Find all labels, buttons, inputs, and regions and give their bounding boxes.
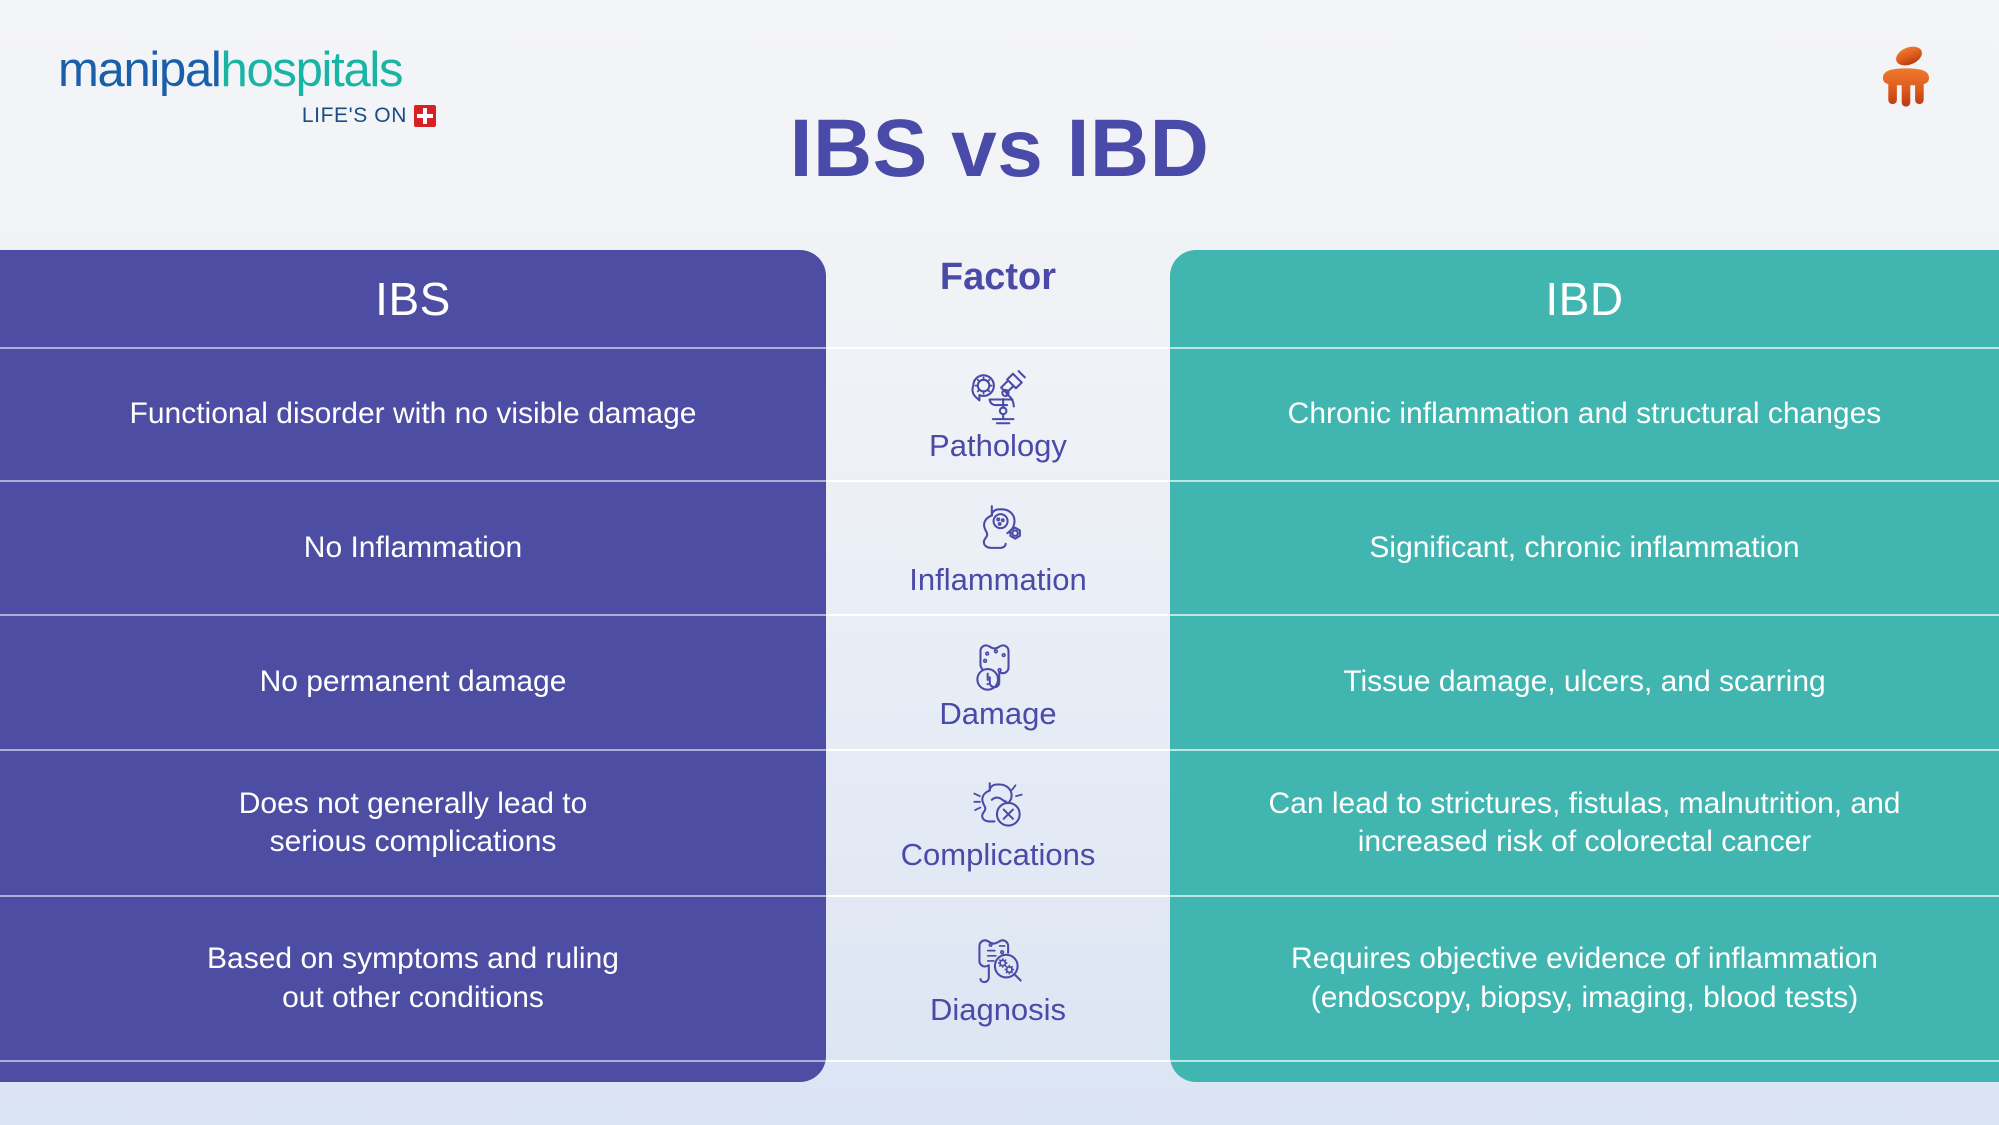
stomach-cross-icon <box>965 777 1031 839</box>
factor-column: Factor <box>826 250 1170 1082</box>
factor-row-diagnosis: Diagnosis <box>826 895 1170 1060</box>
manipal-m-mark-icon <box>1869 36 1943 110</box>
logo-word-hospitals: hospitals <box>221 43 403 97</box>
page-title: IBS vs IBD <box>0 108 1999 190</box>
factor-label-inflammation: Inflammation <box>909 564 1086 595</box>
ibd-column-tail <box>1170 1060 1999 1082</box>
factor-label-damage: Damage <box>939 698 1056 729</box>
microscope-virus-icon <box>965 368 1031 430</box>
ibs-column-tail <box>0 1060 826 1082</box>
intestine-magnifier-icon <box>965 932 1031 994</box>
table-cell-ibs-damage: No permanent damage <box>0 614 826 749</box>
factor-label-pathology: Pathology <box>929 430 1067 461</box>
factor-row-damage: Damage <box>826 614 1170 749</box>
ibd-column-header: IBD <box>1170 250 1999 347</box>
table-cell-ibs-diagnosis: Based on symptoms and rulingout other co… <box>0 895 826 1060</box>
ibs-column-header: IBS <box>0 250 826 347</box>
table-cell-ibs-inflammation: No Inflammation <box>0 480 826 614</box>
inflamed-stomach-icon <box>965 502 1031 564</box>
factor-row-pathology: Pathology <box>826 347 1170 480</box>
table-cell-ibd-pathology: Chronic inflammation and structural chan… <box>1170 347 1999 480</box>
factor-column-header: Factor <box>826 250 1170 347</box>
colon-warning-icon <box>965 636 1031 698</box>
table-cell-ibd-inflammation: Significant, chronic inflammation <box>1170 480 1999 614</box>
table-cell-ibs-complications: Does not generally lead toserious compli… <box>0 749 826 895</box>
table-cell-ibd-diagnosis: Requires objective evidence of inflammat… <box>1170 895 1999 1060</box>
logo-word-manipal: manipal <box>58 43 221 97</box>
ibd-column: IBD Chronic inflammation and structural … <box>1170 250 1999 1082</box>
factor-label-complications: Complications <box>901 839 1096 870</box>
table-cell-ibd-damage: Tissue damage, ulcers, and scarring <box>1170 614 1999 749</box>
factor-label-diagnosis: Diagnosis <box>930 994 1066 1025</box>
comparison-table: IBS Functional disorder with no visible … <box>0 250 1999 1060</box>
factor-row-inflammation: Inflammation <box>826 480 1170 614</box>
table-cell-ibd-complications: Can lead to strictures, fistulas, malnut… <box>1170 749 1999 895</box>
table-cell-ibs-pathology: Functional disorder with no visible dama… <box>0 347 826 480</box>
factor-row-complications: Complications <box>826 749 1170 895</box>
ibs-column: IBS Functional disorder with no visible … <box>0 250 826 1082</box>
page-header: manipalhospitals LIFE'S ON IBS vs IBD <box>0 0 1999 250</box>
logo-wordmark: manipalhospitals <box>58 46 438 95</box>
factor-column-tail <box>826 1060 1170 1082</box>
